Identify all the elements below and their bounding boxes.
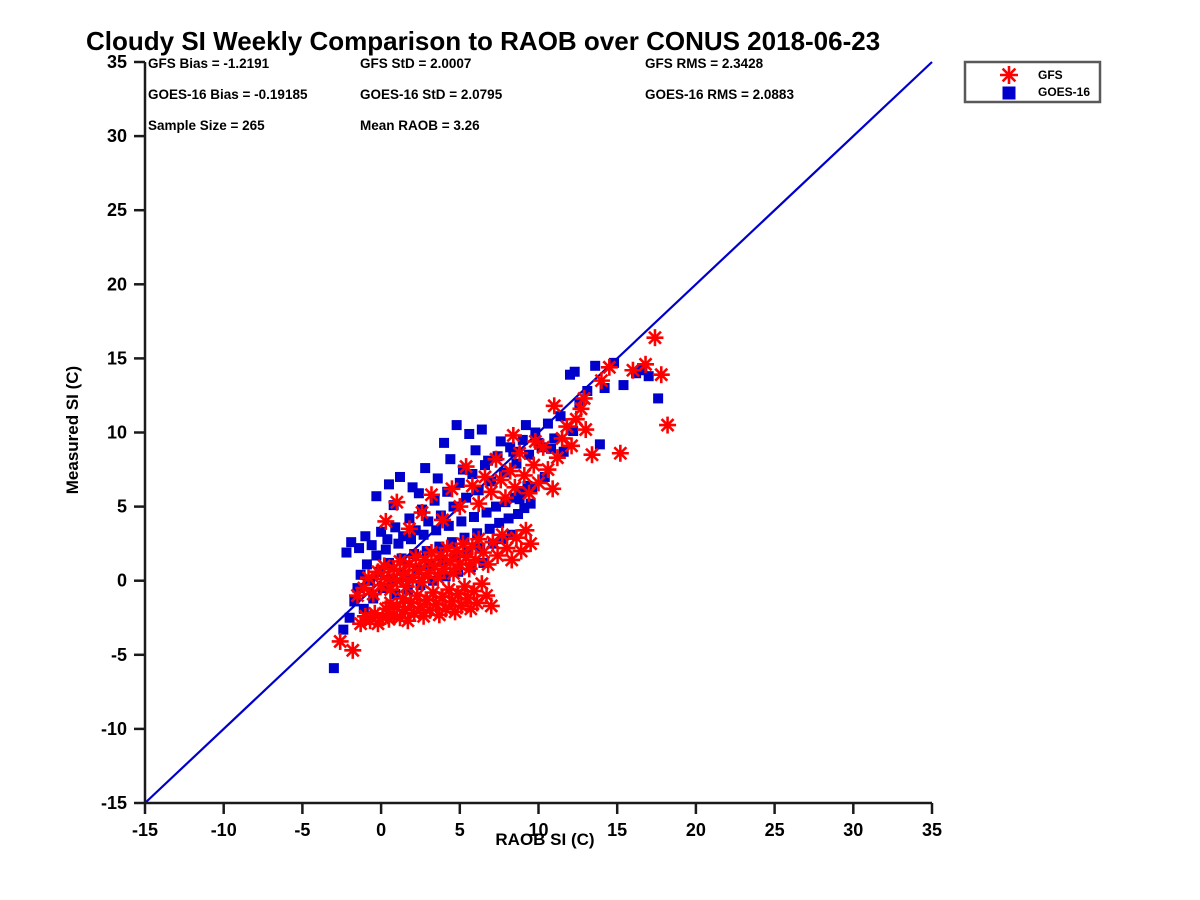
data-point-goes16 <box>445 454 455 464</box>
data-point-goes16 <box>345 613 355 623</box>
data-point-gfs <box>443 480 460 497</box>
data-point-goes16 <box>485 524 495 534</box>
stat-gfs-rms: GFS RMS = 2.3428 <box>645 56 764 71</box>
x-tick-label: 20 <box>686 820 706 840</box>
x-tick-label: -15 <box>132 820 158 840</box>
y-tick-label: 0 <box>117 571 127 591</box>
stat-gfs-bias: GFS Bias = -1.2191 <box>148 56 270 71</box>
data-point-goes16 <box>431 525 441 535</box>
data-point-gfs <box>601 359 618 376</box>
y-tick-label: 20 <box>107 274 127 294</box>
figure-background <box>0 0 1200 900</box>
data-point-goes16 <box>329 663 339 673</box>
legend-label-gfs: GFS <box>1038 68 1063 82</box>
data-point-goes16 <box>590 361 600 371</box>
data-point-goes16 <box>595 439 605 449</box>
data-point-gfs <box>483 597 500 614</box>
data-point-gfs <box>451 498 468 515</box>
data-point-goes16 <box>452 420 462 430</box>
y-tick-label: 30 <box>107 126 127 146</box>
data-point-goes16 <box>469 512 479 522</box>
x-tick-label: 35 <box>922 820 942 840</box>
data-point-gfs <box>653 366 670 383</box>
data-point-gfs <box>646 329 663 346</box>
data-point-gfs <box>511 445 528 462</box>
data-point-gfs <box>505 427 522 444</box>
legend-label-goes16: GOES-16 <box>1038 85 1090 99</box>
data-point-gfs <box>593 372 610 389</box>
data-point-gfs <box>489 547 506 564</box>
data-point-goes16 <box>456 516 466 526</box>
data-point-goes16 <box>570 367 580 377</box>
data-point-gfs <box>414 504 431 521</box>
data-point-goes16 <box>543 419 553 429</box>
data-point-goes16 <box>1003 87 1016 100</box>
data-point-gfs <box>513 543 530 560</box>
y-tick-label: -10 <box>101 719 127 739</box>
data-point-goes16 <box>371 491 381 501</box>
data-point-goes16 <box>395 472 405 482</box>
stat-goes-rms: GOES-16 RMS = 2.0883 <box>645 87 794 102</box>
data-point-gfs <box>476 468 493 485</box>
data-point-goes16 <box>420 463 430 473</box>
x-tick-label: -5 <box>294 820 310 840</box>
chart-title: Cloudy SI Weekly Comparison to RAOB over… <box>86 26 880 56</box>
stat-goes-std: GOES-16 StD = 2.0795 <box>360 87 503 102</box>
data-point-goes16 <box>360 531 370 541</box>
x-tick-label: 15 <box>607 820 627 840</box>
data-point-gfs <box>539 461 556 478</box>
data-point-gfs <box>637 356 654 373</box>
data-point-goes16 <box>414 488 424 498</box>
data-point-gfs <box>377 513 394 530</box>
y-tick-label: 15 <box>107 348 127 368</box>
data-point-gfs <box>576 390 593 407</box>
x-tick-label: 0 <box>376 820 386 840</box>
data-point-goes16 <box>521 420 531 430</box>
data-point-goes16 <box>556 411 566 421</box>
data-point-gfs <box>423 486 440 503</box>
data-point-gfs <box>659 417 676 434</box>
data-point-goes16 <box>433 473 443 483</box>
data-point-goes16 <box>439 438 449 448</box>
y-tick-label: -5 <box>111 645 127 665</box>
data-point-gfs <box>488 451 505 468</box>
stat-sample-size: Sample Size = 265 <box>148 118 265 133</box>
y-tick-label: 35 <box>107 52 127 72</box>
data-point-goes16 <box>496 436 506 446</box>
data-point-goes16 <box>382 534 392 544</box>
x-tick-label: 25 <box>765 820 785 840</box>
data-point-goes16 <box>618 380 628 390</box>
data-point-gfs <box>584 446 601 463</box>
data-point-goes16 <box>362 559 372 569</box>
data-point-gfs <box>502 463 519 480</box>
data-point-gfs <box>527 433 544 450</box>
data-point-gfs <box>522 535 539 552</box>
scatter-chart-figure: Cloudy SI Weekly Comparison to RAOB over… <box>0 0 1200 900</box>
y-axis-label: Measured SI (C) <box>63 366 82 494</box>
chart-legend[interactable]: GFS GOES-16 <box>965 62 1100 102</box>
data-point-goes16 <box>504 513 514 523</box>
x-axis-label: RAOB SI (C) <box>495 830 594 849</box>
y-tick-label: -15 <box>101 793 127 813</box>
chart-canvas: Cloudy SI Weekly Comparison to RAOB over… <box>0 0 1200 900</box>
data-point-goes16 <box>653 393 663 403</box>
data-point-gfs <box>469 594 486 611</box>
x-tick-label: -10 <box>211 820 237 840</box>
data-point-gfs <box>544 480 561 497</box>
data-point-goes16 <box>367 540 377 550</box>
data-point-gfs <box>332 633 349 650</box>
data-point-goes16 <box>471 445 481 455</box>
data-point-goes16 <box>381 545 391 555</box>
data-point-gfs <box>549 449 566 466</box>
data-point-gfs <box>546 397 563 414</box>
data-point-gfs <box>577 421 594 438</box>
data-point-gfs <box>464 477 481 494</box>
data-point-gfs <box>470 495 487 512</box>
x-tick-label: 30 <box>843 820 863 840</box>
stat-gfs-std: GFS StD = 2.0007 <box>360 56 471 71</box>
data-point-goes16 <box>384 479 394 489</box>
data-point-gfs <box>388 494 405 511</box>
data-point-goes16 <box>354 543 364 553</box>
data-point-gfs <box>525 457 542 474</box>
stat-mean-raob: Mean RAOB = 3.26 <box>360 118 480 133</box>
data-point-gfs <box>344 642 361 659</box>
y-tick-label: 5 <box>117 497 127 517</box>
data-point-gfs <box>558 418 575 435</box>
data-point-gfs <box>1000 66 1018 84</box>
data-point-gfs <box>401 520 418 537</box>
data-point-gfs <box>458 458 475 475</box>
data-point-goes16 <box>464 429 474 439</box>
data-point-gfs <box>434 511 451 528</box>
data-point-goes16 <box>341 548 351 558</box>
x-tick-label: 5 <box>455 820 465 840</box>
y-tick-label: 10 <box>107 423 127 443</box>
y-tick-label: 25 <box>107 200 127 220</box>
data-point-gfs <box>563 437 580 454</box>
data-point-goes16 <box>477 425 487 435</box>
data-point-gfs <box>612 445 629 462</box>
stat-goes-bias: GOES-16 Bias = -0.19185 <box>148 87 308 102</box>
data-point-goes16 <box>371 551 381 561</box>
